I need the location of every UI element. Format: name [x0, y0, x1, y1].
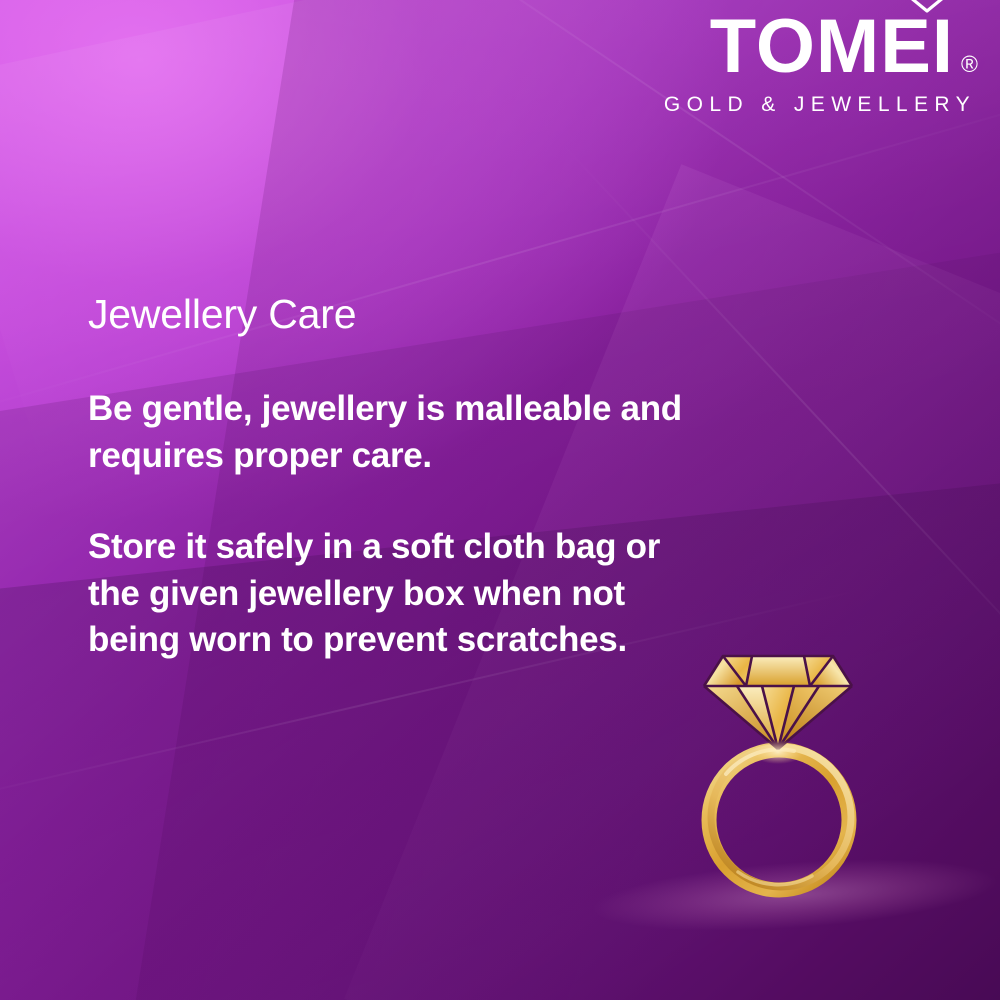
- body-paragraph-2: Store it safely in a soft cloth bag or t…: [88, 524, 688, 665]
- gem-sparkle-glow: [752, 740, 804, 764]
- diamond-ring-icon: [690, 634, 890, 904]
- copy-block: Jewellery Care Be gentle, jewellery is m…: [88, 292, 688, 664]
- brand-logo-wordmark-row: TOMEI ®: [638, 10, 978, 84]
- body-paragraph-1: Be gentle, jewellery is malleable and re…: [88, 386, 688, 480]
- gem-pavilion: [704, 686, 852, 749]
- registered-trademark-mark: ®: [961, 53, 978, 84]
- poster-canvas: TOMEI ® GOLD & JEWELLERY Jewellery Care …: [0, 0, 1000, 1000]
- brand-logo: TOMEI ® GOLD & JEWELLERY: [638, 10, 978, 117]
- ring-band: [709, 747, 851, 890]
- diamond-outline-icon: [903, 0, 951, 13]
- brand-tagline: GOLD & JEWELLERY: [638, 93, 978, 117]
- brand-name: TOMEI: [710, 10, 954, 84]
- page-title: Jewellery Care: [88, 292, 688, 338]
